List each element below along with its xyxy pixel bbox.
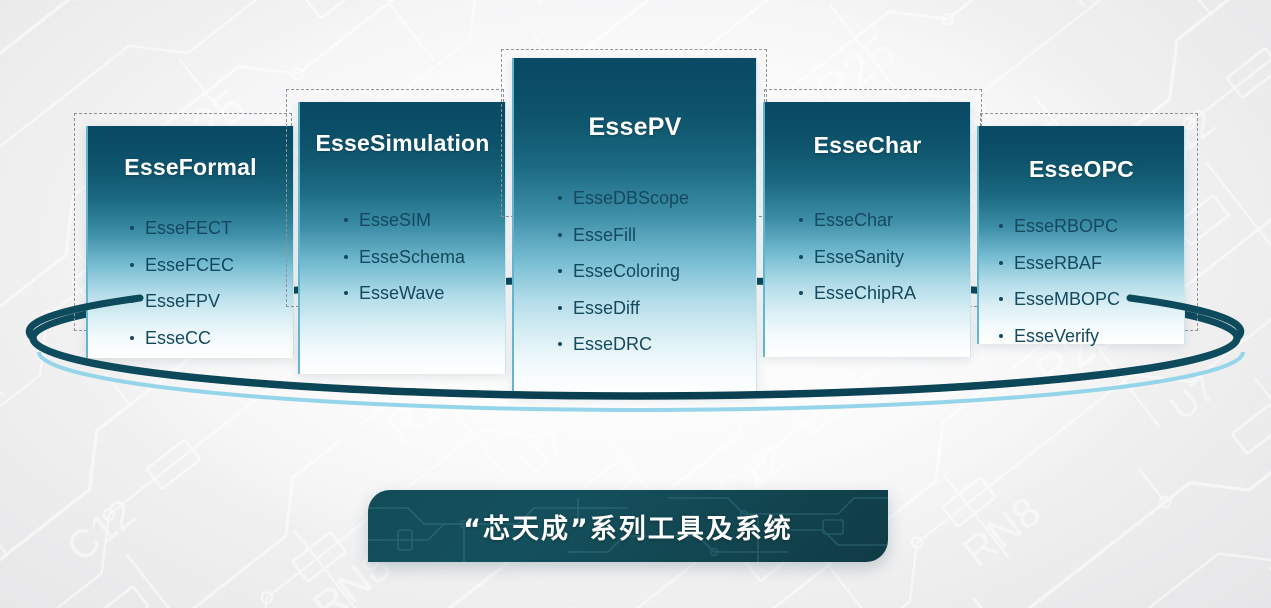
diagram-stage: R25 C12 RN8 U7 EsseFormal <box>0 0 1271 608</box>
banner-title: “芯天成”系列工具及系统 <box>368 490 888 562</box>
title-banner[interactable]: “芯天成”系列工具及系统 <box>368 490 888 562</box>
